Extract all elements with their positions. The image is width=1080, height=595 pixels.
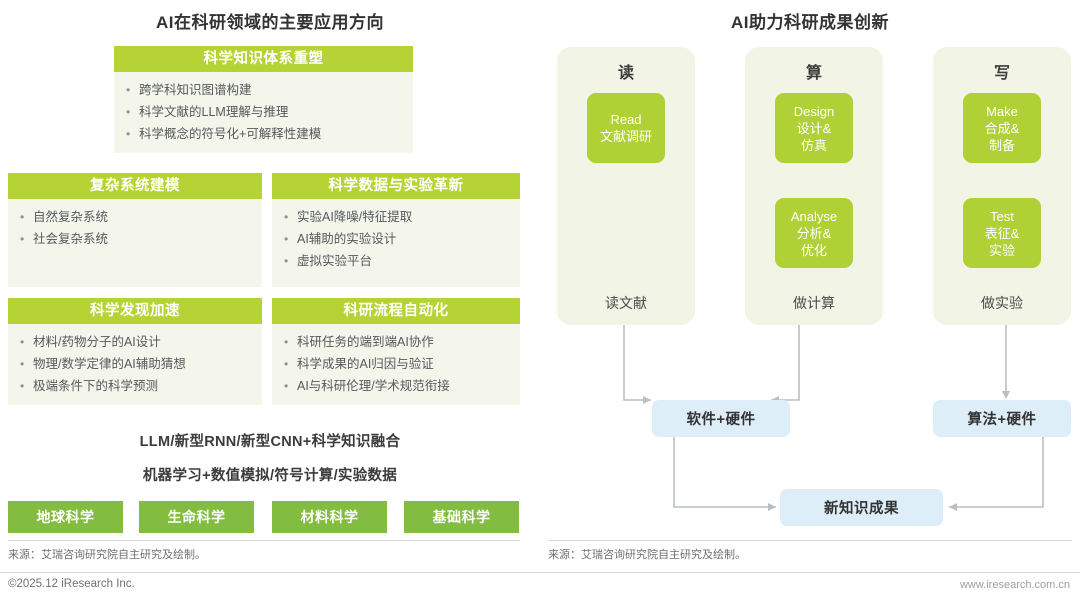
bullet-dot-icon: • — [126, 124, 139, 144]
bullet-text: 自然复杂系统 — [33, 207, 256, 227]
chip-en: Test — [990, 208, 1014, 225]
bullet-text: 材料/药物分子的AI设计 — [33, 332, 256, 352]
bullet-text: 实验AI降噪/特征提取 — [297, 207, 514, 227]
chip-en: Analyse — [791, 208, 837, 225]
column-title: 写 — [933, 59, 1071, 83]
outcome-new-knowledge[interactable]: 新知识成果 — [780, 489, 943, 526]
list-item: • 虚拟实验平台 — [272, 250, 520, 272]
bullet-text: 科学成果的AI归因与验证 — [297, 354, 514, 374]
left-panel-title: AI在科研领域的主要应用方向 — [0, 8, 540, 33]
bullet-text: 科学文献的LLM理解与推理 — [139, 102, 407, 122]
bullet-text: 科研任务的端到端AI协作 — [297, 332, 514, 352]
bullet-dot-icon: • — [20, 207, 33, 227]
list-item: • 社会复杂系统 — [8, 228, 262, 250]
bullet-text: 跨学科知识图谱构建 — [139, 80, 407, 100]
outcome-algorithm-hardware[interactable]: 算法+硬件 — [933, 400, 1071, 437]
card-body: • 科研任务的端到端AI协作 • 科学成果的AI归因与验证 • AI与科研伦理/… — [272, 324, 520, 405]
tag-life-science[interactable]: 生命科学 — [139, 501, 254, 533]
card-body: • 材料/药物分子的AI设计 • 物理/数学定律的AI辅助猜想 • 极端条件下的… — [8, 324, 262, 405]
chip-cn2: 实验 — [989, 242, 1015, 259]
flow-column-write: 写 Make 合成& 制备 Test 表征& 实验 做实验 — [933, 47, 1071, 325]
left-source-note: 来源：艾瑞咨询研究院自主研究及绘制。 — [8, 540, 520, 562]
chip-test[interactable]: Test 表征& 实验 — [963, 198, 1041, 268]
card-body: • 自然复杂系统 • 社会复杂系统 — [8, 199, 262, 287]
bullet-dot-icon: • — [20, 229, 33, 249]
bullet-text: 虚拟实验平台 — [297, 251, 514, 271]
bullet-dot-icon: • — [284, 376, 297, 396]
chip-cn1: 表征& — [985, 225, 1020, 242]
flow-column-read: 读 Read 文献调研 读文献 — [557, 47, 695, 325]
card-research-automation: 科研流程自动化 • 科研任务的端到端AI协作 • 科学成果的AI归因与验证 • … — [272, 298, 520, 405]
bullet-text: AI与科研伦理/学术规范衔接 — [297, 376, 514, 396]
column-title: 读 — [557, 59, 695, 83]
column-footer: 读文献 — [557, 293, 695, 313]
chip-en: Design — [794, 103, 834, 120]
bullet-text: AI辅助的实验设计 — [297, 229, 514, 249]
list-item: • 物理/数学定律的AI辅助猜想 — [8, 353, 262, 375]
list-item: • 科学成果的AI归因与验证 — [272, 353, 520, 375]
chip-cn2: 制备 — [989, 137, 1015, 154]
chip-cn2: 仿真 — [801, 137, 827, 154]
tag-earth-science[interactable]: 地球科学 — [8, 501, 123, 533]
bullet-dot-icon: • — [284, 332, 297, 352]
bullet-dot-icon: • — [20, 376, 33, 396]
list-item: • 跨学科知识图谱构建 — [114, 79, 413, 101]
left-panel: AI在科研领域的主要应用方向 科学知识体系重塑 • 跨学科知识图谱构建 • 科学… — [0, 0, 540, 595]
card-heading: 科学数据与实验革新 — [272, 173, 520, 199]
bullet-dot-icon: • — [284, 207, 297, 227]
bullet-text: 社会复杂系统 — [33, 229, 256, 249]
arrow-software-to-outcome — [668, 437, 788, 517]
chip-cn1: 合成& — [985, 120, 1020, 137]
chip-make[interactable]: Make 合成& 制备 — [963, 93, 1041, 163]
list-item: • 材料/药物分子的AI设计 — [8, 331, 262, 353]
bullet-dot-icon: • — [126, 102, 139, 122]
column-footer: 做实验 — [933, 293, 1071, 313]
chip-cn2: 优化 — [801, 242, 827, 259]
outcome-software-hardware[interactable]: 软件+硬件 — [652, 400, 790, 437]
bullet-dot-icon: • — [126, 80, 139, 100]
chip-en: Make — [986, 103, 1018, 120]
card-heading: 科学发现加速 — [8, 298, 262, 324]
list-item: • 科学文献的LLM理解与推理 — [114, 101, 413, 123]
tag-material-science[interactable]: 材料科学 — [272, 501, 387, 533]
column-footer: 做计算 — [745, 293, 883, 313]
bullet-dot-icon: • — [284, 229, 297, 249]
right-panel-title: AI助力科研成果创新 — [540, 8, 1080, 33]
bullet-dot-icon: • — [20, 354, 33, 374]
website-url: www.iresearch.com.cn — [960, 579, 1070, 591]
chip-en: Read — [610, 111, 641, 128]
card-heading: 科研流程自动化 — [272, 298, 520, 324]
list-item: • AI与科研伦理/学术规范衔接 — [272, 375, 520, 397]
chip-cn1: 设计& — [797, 120, 832, 137]
card-heading: 科学知识体系重塑 — [114, 46, 413, 72]
bullet-text: 物理/数学定律的AI辅助猜想 — [33, 354, 256, 374]
card-heading: 复杂系统建模 — [8, 173, 262, 199]
chip-cn1: 分析& — [797, 225, 832, 242]
list-item: • 科学概念的符号化+可解释性建模 — [114, 123, 413, 145]
bullet-text: 科学概念的符号化+可解释性建模 — [139, 124, 407, 144]
card-body: • 实验AI降噪/特征提取 • AI辅助的实验设计 • 虚拟实验平台 — [272, 199, 520, 287]
right-source-note: 来源：艾瑞咨询研究院自主研究及绘制。 — [548, 540, 1072, 562]
column-title: 算 — [745, 59, 883, 83]
arrow-algorithm-to-outcome — [935, 437, 1055, 517]
flow-column-compute: 算 Design 设计& 仿真 Analyse 分析& 优化 做计算 — [745, 47, 883, 325]
bullet-dot-icon: • — [20, 332, 33, 352]
card-body: • 跨学科知识图谱构建 • 科学文献的LLM理解与推理 • 科学概念的符号化+可… — [114, 72, 413, 153]
list-item: • 实验AI降噪/特征提取 — [272, 206, 520, 228]
list-item: • 自然复杂系统 — [8, 206, 262, 228]
arrow-write-to-algorithm — [996, 325, 1016, 403]
bullet-dot-icon: • — [284, 354, 297, 374]
tag-basic-science[interactable]: 基础科学 — [404, 501, 519, 533]
foundation-line-methods: 机器学习+数值模拟/符号计算/实验数据 — [0, 464, 540, 485]
footer-divider — [0, 572, 1080, 573]
bullet-dot-icon: • — [284, 251, 297, 271]
chip-analyse[interactable]: Analyse 分析& 优化 — [775, 198, 853, 268]
card-knowledge-system: 科学知识体系重塑 • 跨学科知识图谱构建 • 科学文献的LLM理解与推理 • 科… — [114, 46, 413, 153]
card-complex-systems: 复杂系统建模 • 自然复杂系统 • 社会复杂系统 — [8, 173, 262, 287]
chip-design[interactable]: Design 设计& 仿真 — [775, 93, 853, 163]
right-panel: AI助力科研成果创新 读 Read 文献调研 读文献 算 Design 设计& … — [540, 0, 1080, 595]
chip-cn1: 文献调研 — [600, 128, 652, 145]
list-item: • AI辅助的实验设计 — [272, 228, 520, 250]
list-item: • 科研任务的端到端AI协作 — [272, 331, 520, 353]
copyright-text: ©2025.12 iResearch Inc. — [8, 578, 135, 590]
chip-read[interactable]: Read 文献调研 — [587, 93, 665, 163]
list-item: • 极端条件下的科学预测 — [8, 375, 262, 397]
bullet-text: 极端条件下的科学预测 — [33, 376, 256, 396]
card-data-experiment: 科学数据与实验革新 • 实验AI降噪/特征提取 • AI辅助的实验设计 • 虚拟… — [272, 173, 520, 287]
foundation-line-models: LLM/新型RNN/新型CNN+科学知识融合 — [0, 430, 540, 451]
card-discovery-acceleration: 科学发现加速 • 材料/药物分子的AI设计 • 物理/数学定律的AI辅助猜想 •… — [8, 298, 262, 405]
